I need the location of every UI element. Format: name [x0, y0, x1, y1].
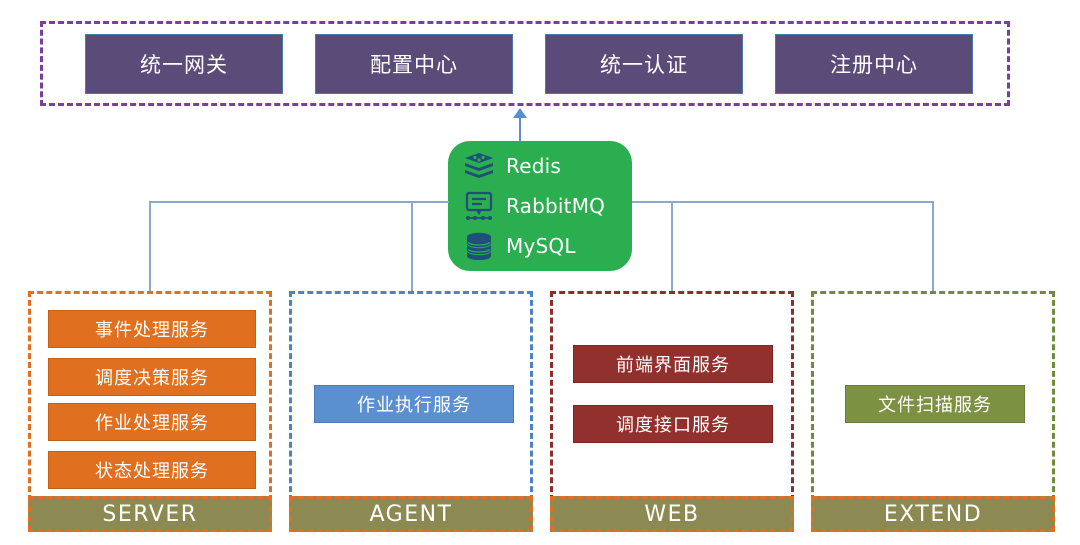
connector-drop-web — [671, 201, 673, 291]
service-label: 作业处理服务 — [95, 409, 209, 435]
middleware-to-platform-arrow-line — [519, 117, 521, 143]
service-label: 作业执行服务 — [357, 391, 471, 417]
service-box-event-processing[interactable]: 事件处理服务 — [48, 310, 256, 348]
middleware-item-mysql[interactable]: MySQL — [462, 226, 632, 266]
group-footer-extend: EXTEND — [811, 496, 1055, 532]
service-box-scheduling-decision[interactable]: 调度决策服务 — [48, 358, 256, 396]
connector-drop-extend — [932, 201, 934, 291]
platform-component-config-center[interactable]: 配置中心 — [315, 34, 513, 94]
middleware-to-platform-arrow-head — [513, 108, 527, 118]
middleware-box[interactable]: Redis — [448, 141, 632, 271]
connector-drop-agent — [411, 201, 413, 291]
architecture-diagram: 统一网关 配置中心 统一认证 注册中心 — [0, 0, 1080, 545]
rabbitmq-message-icon — [462, 191, 496, 221]
group-footer-label: WEB — [644, 502, 699, 527]
service-box-job-processing[interactable]: 作业处理服务 — [48, 403, 256, 441]
connector-bus-left — [149, 201, 449, 203]
platform-component-label: 统一认证 — [600, 49, 688, 79]
mysql-database-icon — [462, 231, 496, 261]
service-box-scheduling-api[interactable]: 调度接口服务 — [573, 405, 773, 443]
group-frame-web — [550, 291, 794, 501]
service-box-file-scan[interactable]: 文件扫描服务 — [845, 385, 1025, 423]
platform-component-gateway[interactable]: 统一网关 — [85, 34, 283, 94]
platform-component-registry[interactable]: 注册中心 — [775, 34, 973, 94]
connector-drop-server — [149, 201, 151, 291]
service-label: 前端界面服务 — [616, 351, 730, 377]
group-footer-server: SERVER — [28, 496, 272, 532]
middleware-item-label: Redis — [506, 154, 561, 178]
middleware-item-label: RabbitMQ — [506, 194, 605, 218]
service-box-state-processing[interactable]: 状态处理服务 — [48, 451, 256, 489]
service-label: 调度决策服务 — [95, 364, 209, 390]
service-label: 调度接口服务 — [616, 411, 730, 437]
middleware-item-redis[interactable]: Redis — [462, 146, 632, 186]
group-footer-label: AGENT — [369, 502, 452, 527]
group-footer-web: WEB — [550, 496, 794, 532]
group-footer-label: SERVER — [102, 502, 197, 527]
group-footer-agent: AGENT — [289, 496, 533, 532]
service-label: 文件扫描服务 — [878, 391, 992, 417]
redis-layers-icon — [462, 151, 496, 181]
platform-component-label: 注册中心 — [830, 49, 918, 79]
group-footer-label: EXTEND — [884, 502, 982, 527]
platform-component-label: 配置中心 — [370, 49, 458, 79]
platform-component-auth[interactable]: 统一认证 — [545, 34, 743, 94]
connector-bus-right — [632, 201, 932, 203]
service-box-frontend-ui[interactable]: 前端界面服务 — [573, 345, 773, 383]
middleware-item-label: MySQL — [506, 234, 576, 258]
platform-component-label: 统一网关 — [140, 49, 228, 79]
service-box-job-execution[interactable]: 作业执行服务 — [314, 385, 514, 423]
middleware-item-rabbitmq[interactable]: RabbitMQ — [462, 186, 632, 226]
service-label: 状态处理服务 — [95, 457, 209, 483]
service-label: 事件处理服务 — [95, 316, 209, 342]
